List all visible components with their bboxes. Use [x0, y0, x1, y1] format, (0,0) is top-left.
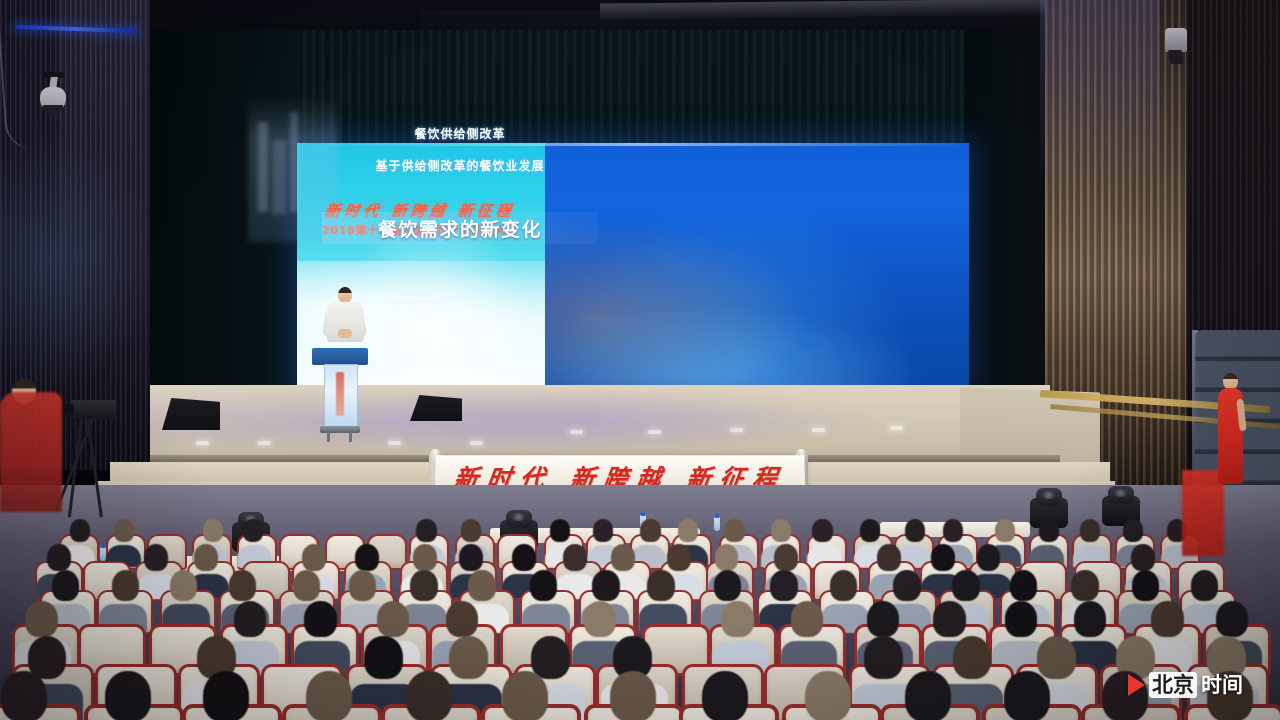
footlight [812, 428, 825, 432]
audience-member-head [812, 519, 832, 542]
audience-member-head [502, 671, 548, 720]
right-wall-glow [1040, 0, 1160, 190]
audience-member-head [1005, 601, 1037, 637]
audience-member-head [1004, 671, 1050, 720]
audience-member-head [194, 544, 218, 571]
audience-member-head [864, 636, 903, 679]
wall-speaker-right-icon [1165, 28, 1191, 70]
audience-member-head [449, 636, 488, 679]
audience-member-head [774, 544, 798, 571]
audience-member-head [461, 519, 481, 542]
audience-member-head [721, 601, 753, 637]
audience-member-head [931, 544, 955, 571]
audience-member-head [715, 544, 739, 571]
audience-member-head [52, 570, 80, 601]
audience-member-head [70, 519, 90, 542]
audience-member-head [306, 671, 352, 720]
audience-member-head [702, 671, 748, 720]
audience-member-head [377, 601, 409, 637]
audience-member-head [952, 570, 980, 601]
audience-member-head [170, 570, 198, 601]
audience-member-head [1151, 601, 1183, 637]
audience-member-head [771, 519, 791, 542]
audience-member-head [530, 570, 558, 601]
audience-member-head [304, 601, 336, 637]
audience-member-head [512, 544, 536, 571]
audience-member-head [112, 570, 140, 601]
audience-member-head [1071, 570, 1099, 601]
audience-member-head [25, 601, 57, 637]
footlight [470, 441, 483, 445]
audience-member-head [714, 570, 742, 601]
audience-member-head [724, 519, 744, 542]
audience-member-head [302, 544, 326, 571]
audience-member-head [667, 544, 691, 571]
audience-member-head [640, 519, 660, 542]
audience-member-head [416, 519, 436, 542]
audience-member-head [933, 601, 965, 637]
audience-member-head [1123, 519, 1143, 542]
slide-title: 餐饮需求的新变化 [322, 214, 598, 242]
audience-member-head [860, 519, 880, 542]
audience-member-head [1074, 601, 1106, 637]
slide-bullet-2: 基于供给侧改革的餐饮业发展 [248, 157, 672, 174]
footlight [890, 426, 903, 430]
audience-member-head [531, 636, 570, 679]
audience-member-head [647, 570, 675, 601]
audience-member-head [877, 544, 901, 571]
audience-member-head [293, 570, 321, 601]
audience-member-head [459, 544, 483, 571]
left-wall-glow [0, 130, 160, 390]
audience-member-head [413, 544, 437, 571]
screen-top-glint [297, 143, 969, 146]
audience-member-head [977, 544, 1001, 571]
audience-member-head [1039, 519, 1059, 542]
audience-member-head [364, 636, 403, 679]
audience-member-head [468, 570, 496, 601]
broadcaster-watermark: 北京 时间 [1128, 672, 1243, 698]
footlight [258, 441, 271, 445]
audience-member-head [830, 570, 858, 601]
audience-member-head [610, 671, 656, 720]
water-bottle [714, 514, 720, 531]
audience-member-head [410, 570, 438, 601]
audience-member-head [1132, 570, 1160, 601]
wall-speaker-icon [38, 72, 68, 116]
slide-building-2 [272, 140, 286, 214]
audience-member-head [1010, 570, 1038, 601]
footlight [570, 430, 583, 434]
audience-member-head [611, 544, 635, 571]
audience-member-head [243, 519, 263, 542]
footlight [196, 441, 209, 445]
stage-monitor-speaker [162, 398, 220, 430]
audience-member-head [105, 671, 151, 720]
audience-member-head [995, 519, 1015, 542]
audience-member-head [229, 570, 257, 601]
play-triangle-icon [1128, 674, 1145, 696]
footlight [730, 428, 743, 432]
audience-member-head [805, 671, 851, 720]
audience-member-head [943, 519, 963, 542]
audience-member-head [406, 671, 452, 720]
audience-member-head [47, 544, 71, 571]
footlight [388, 441, 401, 445]
audience-member-head [791, 601, 823, 637]
audience-member-head [1080, 519, 1100, 542]
audience-member-head [355, 544, 379, 571]
audience-member-head [770, 570, 798, 601]
audience-member-head [563, 544, 587, 571]
audience-member-head [905, 671, 951, 720]
audience-member-head [1, 671, 47, 720]
audience-member-head [893, 570, 921, 601]
audience-member-head [1037, 636, 1076, 679]
left-foreground-person [0, 392, 62, 512]
conference-hall-photo: 新时代 新跨越 新征程 2018第十二届中国餐饮产业发展大会 餐饮需求的新变化 … [0, 0, 1280, 720]
presenter-person [325, 287, 365, 353]
audience-member-head [593, 519, 613, 542]
audience-member-head [446, 601, 478, 637]
audience-member-head [953, 636, 992, 679]
hostess-in-red-dress [1214, 373, 1248, 485]
audience-member-head [349, 570, 377, 601]
audience-member-head [584, 601, 616, 637]
audience-member-head [1216, 601, 1248, 637]
audience-member-head [203, 671, 249, 720]
audience-member-head [1191, 570, 1219, 601]
audience-member-head [867, 601, 899, 637]
podium [318, 348, 362, 440]
watermark-brand-plain: 时间 [1201, 672, 1243, 698]
audience-member-head [905, 519, 925, 542]
audience-member-head [234, 601, 266, 637]
screen-light-sheen [545, 293, 969, 385]
footlight [648, 430, 661, 434]
audience-member-head [678, 519, 698, 542]
watermark-brand-boxed: 北京 [1149, 672, 1197, 698]
audience-member-head [550, 519, 570, 542]
audience-member-head [114, 519, 134, 542]
camera-tripod [56, 400, 138, 520]
stage-led-screen [297, 143, 969, 385]
slide-bullet-1: 餐饮供给侧改革 [248, 125, 672, 142]
audience-member-head [1131, 544, 1155, 571]
audience-member-head [144, 544, 168, 571]
audience-member-head [203, 519, 223, 542]
audience-member-head [592, 570, 620, 601]
